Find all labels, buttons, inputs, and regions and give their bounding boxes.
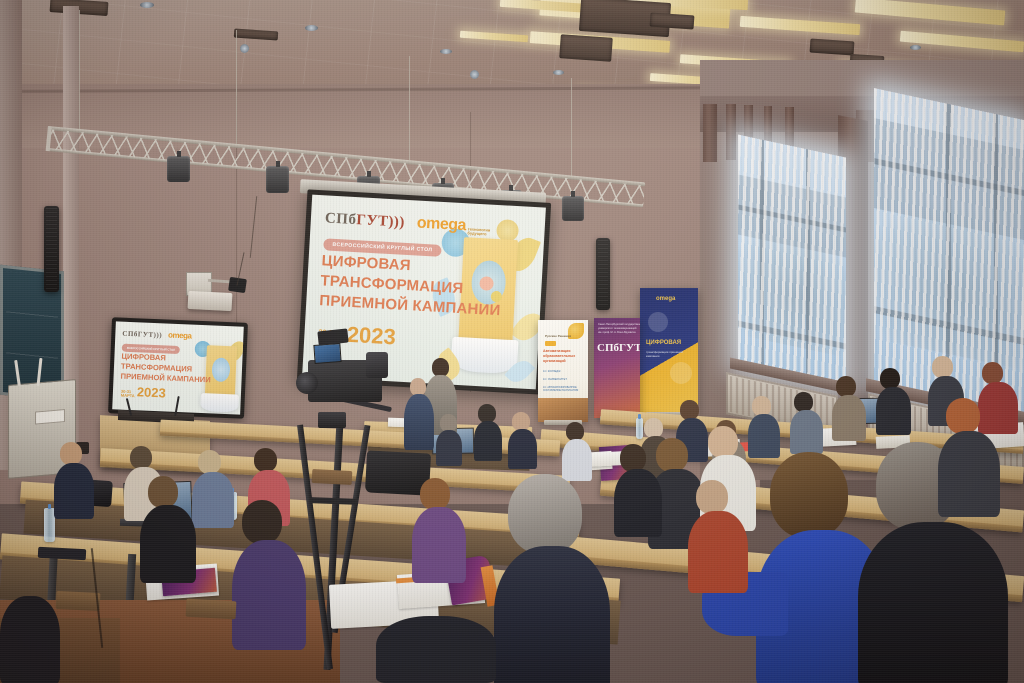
projector <box>188 291 233 311</box>
sprinkler-icon <box>553 70 564 75</box>
sprinkler-icon <box>305 25 318 31</box>
banner-omega: omega ЦИФРОВАЯ трансформация приемной ка… <box>640 288 698 414</box>
conference-hall-photo: СПбГУТ))) omega технологии будущего ВСЕР… <box>0 0 1024 683</box>
sprinkler-icon <box>470 70 479 79</box>
water-bottle <box>636 418 643 439</box>
camera-viewfinder <box>366 352 388 378</box>
banner-graphic <box>670 362 692 384</box>
seat-back <box>312 469 353 485</box>
speaker-left <box>44 206 59 292</box>
sprinkler-icon <box>440 49 452 54</box>
banner-spbgut: Санкт-Петербургский государственный унив… <box>594 318 640 418</box>
window-left <box>738 135 846 388</box>
stage-light <box>167 156 190 182</box>
logo-spbgut: СПбГУТ))) <box>324 210 405 231</box>
ac-vent <box>650 12 695 29</box>
monitor-logos: СПбГУТ))) omega <box>122 329 191 341</box>
monitor-heading-3: ПРИЕМНОЙ КАМПАНИИ <box>120 373 210 385</box>
seat-back <box>186 599 237 620</box>
seat-back <box>56 591 101 611</box>
sprinkler-icon <box>140 2 154 8</box>
cabinet-label <box>35 409 65 425</box>
camera-flip-screen <box>313 343 341 364</box>
wall-pilaster <box>703 104 717 162</box>
wall-pilaster <box>726 104 736 160</box>
truss-wire <box>79 10 80 132</box>
logo-omega: omega технологии будущего <box>416 215 491 237</box>
stage-light <box>562 196 584 221</box>
truss-wire <box>409 56 410 160</box>
sprinkler-icon <box>240 44 249 53</box>
camera-lens <box>296 372 318 394</box>
logo-omega: omega <box>168 331 192 341</box>
handout-papers <box>588 451 625 467</box>
ac-vent <box>559 34 613 62</box>
logo-spbgut: СПбГУТ))) <box>122 330 162 340</box>
stage-light <box>266 166 289 193</box>
banner-photo <box>538 398 588 422</box>
truss-wire <box>236 30 237 144</box>
speaker-right <box>596 238 610 310</box>
banner-graphic <box>648 312 668 332</box>
tripod-head <box>318 412 346 428</box>
banner-tag <box>545 341 556 346</box>
slide-heading-1: ЦИФРОВАЯ <box>321 253 411 275</box>
truss-wire <box>571 78 572 176</box>
ac-vent <box>810 38 855 55</box>
banner-russkie-resheniya: Русские Решения Автоматизация образовате… <box>538 320 588 422</box>
monitor-artwork <box>190 331 244 415</box>
sprinkler-icon <box>910 45 921 50</box>
slide-date-year: 2023 <box>346 325 396 349</box>
